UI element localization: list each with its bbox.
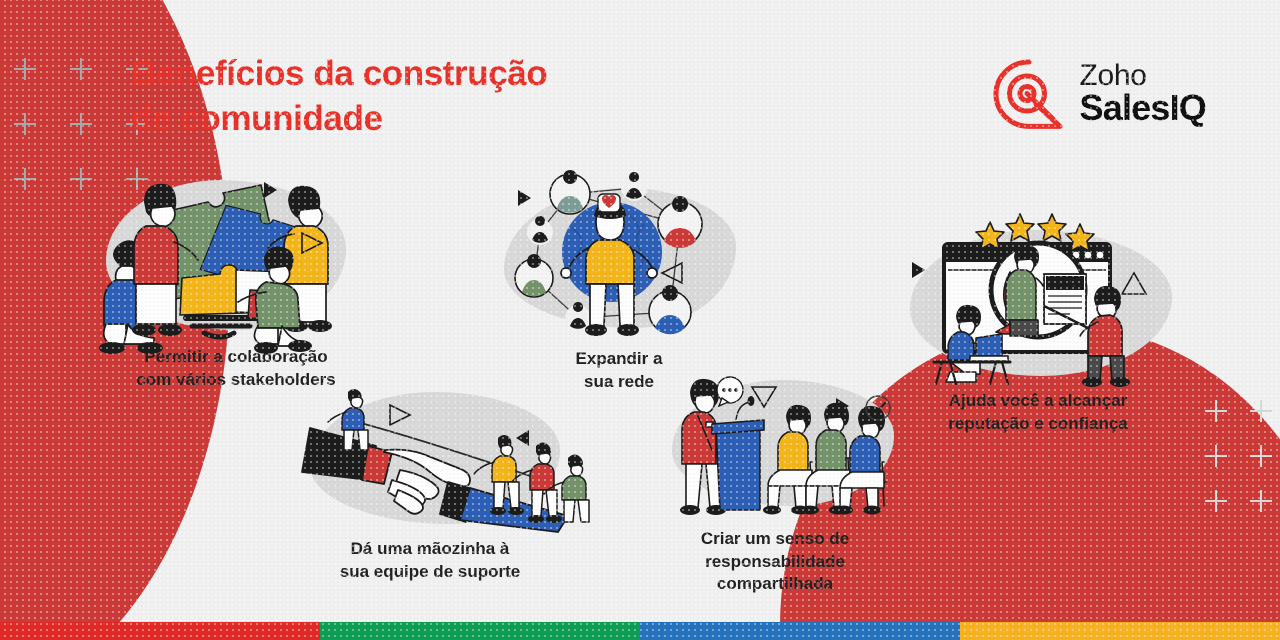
plus-icon: [70, 58, 92, 80]
bottom-bar-segment-red: [0, 622, 320, 640]
benefit-card-support: Dá uma mãozinha à sua equipe de suporte: [280, 386, 580, 583]
triangle-outline-accent-icon: [1120, 270, 1148, 298]
illustration-handshake-with-team-pulling-rope: [280, 386, 580, 532]
illustration-speaker-at-podium-with-audience: [650, 370, 900, 522]
bottom-bar-segment-yellow: [960, 622, 1280, 640]
illustration-people-assembling-puzzle: [86, 172, 386, 340]
infographic-canvas: Benefícios da construção de comunidade Z…: [0, 0, 1280, 640]
plus-icon: [1205, 445, 1227, 467]
triangle-outline-accent-icon: [660, 260, 686, 286]
triangle-accent-icon: [912, 262, 925, 278]
brand-logo-text: Zoho SalesIQ: [1080, 61, 1206, 126]
plus-icon: [1205, 490, 1227, 512]
benefit-card-reputation: BRAND: [898, 212, 1178, 435]
triangle-outline-accent-icon: [298, 230, 324, 256]
plus-icon: [14, 113, 36, 135]
benefit-card-network: Expandir a sua rede: [494, 166, 744, 393]
triangle-outline-accent-icon: [750, 382, 778, 410]
triangle-outline-accent-icon: [386, 402, 412, 428]
plus-icon: [1250, 445, 1272, 467]
plus-icon: [70, 113, 92, 135]
plus-icon: [1250, 490, 1272, 512]
plus-icon: [1205, 400, 1227, 422]
plus-grid-right: [1205, 400, 1280, 535]
zoho-salesiq-chat-logo-icon: [990, 58, 1066, 130]
plus-icon: [1250, 400, 1272, 422]
brand-logo: Zoho SalesIQ: [990, 58, 1206, 130]
illustration-person-with-globe-network-avatars: [494, 166, 744, 342]
benefit-caption-reputation: Ajuda você a alcançar reputação e confia…: [898, 390, 1178, 435]
bottom-color-bar: [0, 622, 1280, 640]
benefit-caption-responsibility: Criar um senso de responsabilidade compa…: [650, 528, 900, 596]
page-title: Benefícios da construção de comunidade: [131, 52, 547, 142]
benefit-caption-collaboration: Permitir a colaboração com vários stakeh…: [86, 346, 386, 391]
plus-icon: [14, 58, 36, 80]
brand-logo-line2: SalesIQ: [1080, 90, 1206, 127]
benefit-card-responsibility: Criar um senso de responsabilidade compa…: [650, 370, 900, 596]
triangle-accent-icon: [264, 182, 277, 198]
bottom-bar-segment-green: [320, 622, 640, 640]
illustration-browser-screen-brand-review-stars: BRAND: [898, 212, 1178, 384]
plus-icon: [14, 168, 36, 190]
triangle-accent-icon: [518, 190, 531, 206]
triangle-accent-icon: [516, 430, 529, 446]
benefit-card-collaboration: Permitir a colaboração com vários stakeh…: [86, 172, 386, 391]
benefit-caption-support: Dá uma mãozinha à sua equipe de suporte: [280, 538, 580, 583]
brand-card-label: BRAND: [1047, 279, 1083, 290]
triangle-accent-icon: [836, 398, 849, 414]
bottom-bar-segment-blue: [640, 622, 960, 640]
